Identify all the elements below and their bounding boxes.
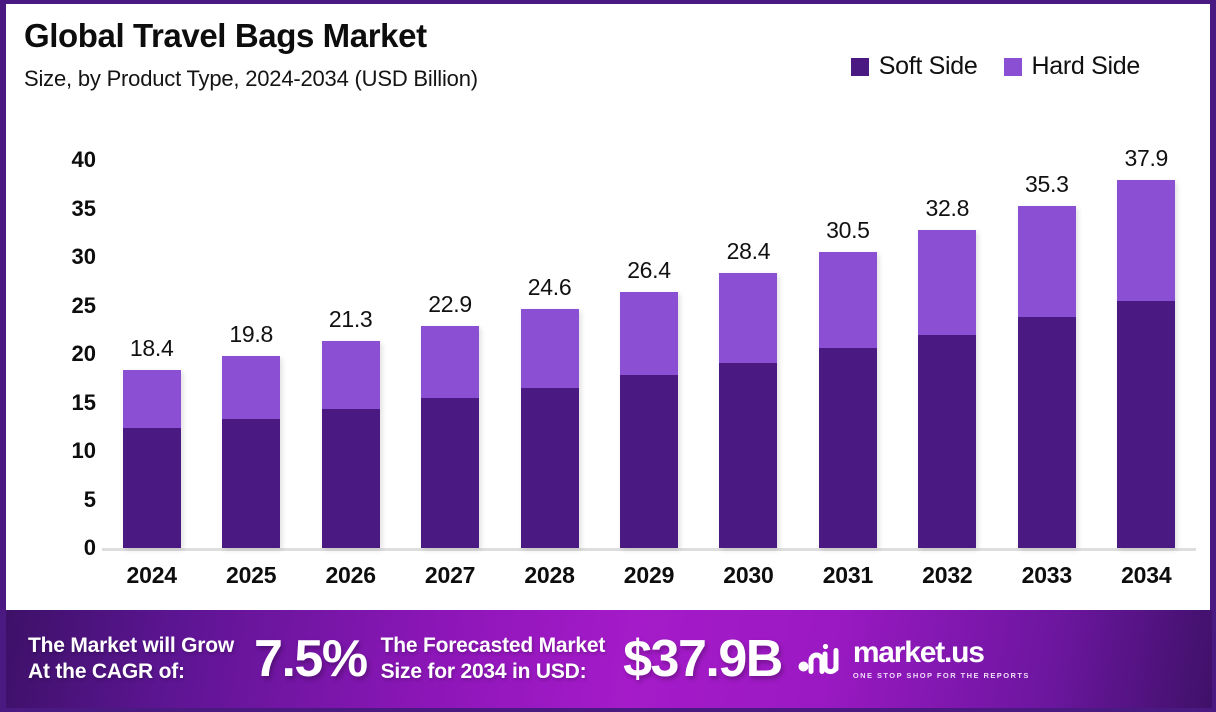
bar-stack[interactable] — [222, 356, 280, 548]
bar-group[interactable]: 26.4 — [620, 124, 678, 548]
bar-segment-soft-side[interactable] — [123, 428, 181, 548]
legend-label-hard-side: Hard Side — [1032, 52, 1140, 81]
bar-stack[interactable] — [1117, 180, 1175, 548]
bar-series-container: 18.419.821.322.924.626.428.430.532.835.3… — [102, 124, 1196, 548]
square-swatch-icon — [851, 58, 869, 76]
bar-segment-hard-side[interactable] — [1018, 206, 1076, 318]
y-axis-tick: 10 — [72, 438, 96, 464]
plot-area: 0510152025303540 18.419.821.322.924.626.… — [6, 124, 1212, 604]
page-subtitle: Size, by Product Type, 2024-2034 (USD Bi… — [24, 66, 478, 92]
x-axis-tick: 2031 — [819, 562, 877, 589]
bar-segment-soft-side[interactable] — [719, 363, 777, 548]
cagr-caption-line1: The Market will Grow — [28, 633, 234, 659]
y-axis-tick: 15 — [72, 390, 96, 416]
bar-segment-soft-side[interactable] — [322, 409, 380, 548]
bar-stack[interactable] — [1018, 206, 1076, 548]
bar-total-label: 32.8 — [926, 195, 970, 222]
bar-stack[interactable] — [819, 252, 877, 548]
chart-header: Global Travel Bags Market Size, by Produ… — [6, 4, 1212, 124]
cagr-caption-line2: At the CAGR of: — [28, 659, 234, 685]
bar-segment-soft-side[interactable] — [918, 335, 976, 548]
bar-total-label: 37.9 — [1124, 145, 1168, 172]
bar-group[interactable]: 32.8 — [918, 124, 976, 548]
x-axis-tick: 2027 — [421, 562, 479, 589]
y-axis-tick: 0 — [84, 535, 96, 561]
bar-segment-soft-side[interactable] — [1117, 301, 1175, 548]
bar-stack[interactable] — [421, 326, 479, 548]
bar-group[interactable]: 21.3 — [322, 124, 380, 548]
x-axis-tick: 2029 — [620, 562, 678, 589]
bar-segment-soft-side[interactable] — [620, 375, 678, 548]
bar-total-label: 24.6 — [528, 274, 572, 301]
bar-segment-soft-side[interactable] — [1018, 317, 1076, 548]
bar-total-label: 26.4 — [627, 257, 671, 284]
bar-segment-soft-side[interactable] — [421, 398, 479, 548]
chart-legend: Soft Side Hard Side — [851, 52, 1140, 81]
logo-text-wrap: market.us ONE STOP SHOP FOR THE REPORTS — [853, 638, 1030, 680]
bar-group[interactable]: 30.5 — [819, 124, 877, 548]
page-title: Global Travel Bags Market — [24, 18, 478, 54]
x-axis: 2024202520262027202820292030203120322033… — [102, 562, 1196, 589]
x-axis-tick: 2024 — [123, 562, 181, 589]
bar-total-label: 18.4 — [130, 335, 174, 362]
x-axis-tick: 2033 — [1018, 562, 1076, 589]
y-axis-tick: 35 — [72, 196, 96, 222]
square-swatch-icon — [1004, 58, 1022, 76]
title-block: Global Travel Bags Market Size, by Produ… — [24, 18, 478, 92]
infographic-root: Global Travel Bags Market Size, by Produ… — [0, 0, 1216, 712]
bar-stack[interactable] — [620, 292, 678, 548]
y-axis-tick: 20 — [72, 341, 96, 367]
bar-segment-hard-side[interactable] — [123, 370, 181, 428]
stats-banner: The Market will Grow At the CAGR of: 7.5… — [6, 610, 1212, 708]
y-axis: 0510152025303540 — [44, 124, 96, 556]
forecast-size-caption-line1: The Forecasted Market — [381, 633, 606, 659]
cagr-value: 7.5% — [254, 629, 367, 689]
market-us-logo[interactable]: market.us ONE STOP SHOP FOR THE REPORTS — [798, 638, 1030, 680]
bar-total-label: 21.3 — [329, 306, 373, 333]
y-axis-tick: 30 — [72, 244, 96, 270]
bar-segment-hard-side[interactable] — [1117, 180, 1175, 300]
bar-group[interactable]: 19.8 — [222, 124, 280, 548]
bar-group[interactable]: 37.9 — [1117, 124, 1175, 548]
x-axis-tick: 2034 — [1117, 562, 1175, 589]
forecast-size-caption: The Forecasted Market Size for 2034 in U… — [381, 633, 606, 686]
bar-segment-soft-side[interactable] — [521, 388, 579, 548]
bar-group[interactable]: 35.3 — [1018, 124, 1076, 548]
legend-item-soft-side[interactable]: Soft Side — [851, 52, 978, 81]
bar-segment-soft-side[interactable] — [819, 348, 877, 548]
bar-total-label: 28.4 — [727, 238, 771, 265]
forecast-size-value: $37.9B — [623, 629, 782, 689]
bar-group[interactable]: 22.9 — [421, 124, 479, 548]
bar-total-label: 35.3 — [1025, 171, 1069, 198]
x-axis-tick: 2026 — [322, 562, 380, 589]
forecast-size-caption-line2: Size for 2034 in USD: — [381, 659, 606, 685]
bar-total-label: 19.8 — [229, 321, 273, 348]
bar-stack[interactable] — [521, 309, 579, 548]
bar-stack[interactable] — [719, 273, 777, 548]
bar-total-label: 22.9 — [428, 291, 472, 318]
x-axis-baseline — [102, 548, 1196, 551]
x-axis-tick: 2028 — [521, 562, 579, 589]
market-us-logo-icon — [798, 642, 844, 676]
bar-stack[interactable] — [918, 230, 976, 548]
bar-group[interactable]: 18.4 — [123, 124, 181, 548]
bar-segment-hard-side[interactable] — [421, 326, 479, 398]
x-axis-tick: 2032 — [918, 562, 976, 589]
cagr-caption: The Market will Grow At the CAGR of: — [28, 633, 234, 686]
bar-total-label: 30.5 — [826, 217, 870, 244]
bar-segment-hard-side[interactable] — [222, 356, 280, 419]
bar-segment-hard-side[interactable] — [719, 273, 777, 363]
bar-segment-hard-side[interactable] — [322, 341, 380, 409]
bar-segment-soft-side[interactable] — [222, 419, 280, 548]
bar-segment-hard-side[interactable] — [620, 292, 678, 375]
bar-group[interactable]: 24.6 — [521, 124, 579, 548]
y-axis-tick: 25 — [72, 293, 96, 319]
y-axis-tick: 5 — [84, 487, 96, 513]
bar-group[interactable]: 28.4 — [719, 124, 777, 548]
bar-segment-hard-side[interactable] — [521, 309, 579, 388]
x-axis-tick: 2030 — [719, 562, 777, 589]
bar-segment-hard-side[interactable] — [819, 252, 877, 348]
legend-label-soft-side: Soft Side — [879, 52, 978, 81]
bar-stack[interactable] — [322, 341, 380, 548]
y-axis-tick: 40 — [72, 147, 96, 173]
logo-wordmark: market.us — [853, 638, 1030, 668]
x-axis-tick: 2025 — [222, 562, 280, 589]
bar-stack[interactable] — [123, 370, 181, 548]
legend-item-hard-side[interactable]: Hard Side — [1004, 52, 1140, 81]
bar-segment-hard-side[interactable] — [918, 230, 976, 335]
logo-tagline: ONE STOP SHOP FOR THE REPORTS — [853, 671, 1030, 680]
